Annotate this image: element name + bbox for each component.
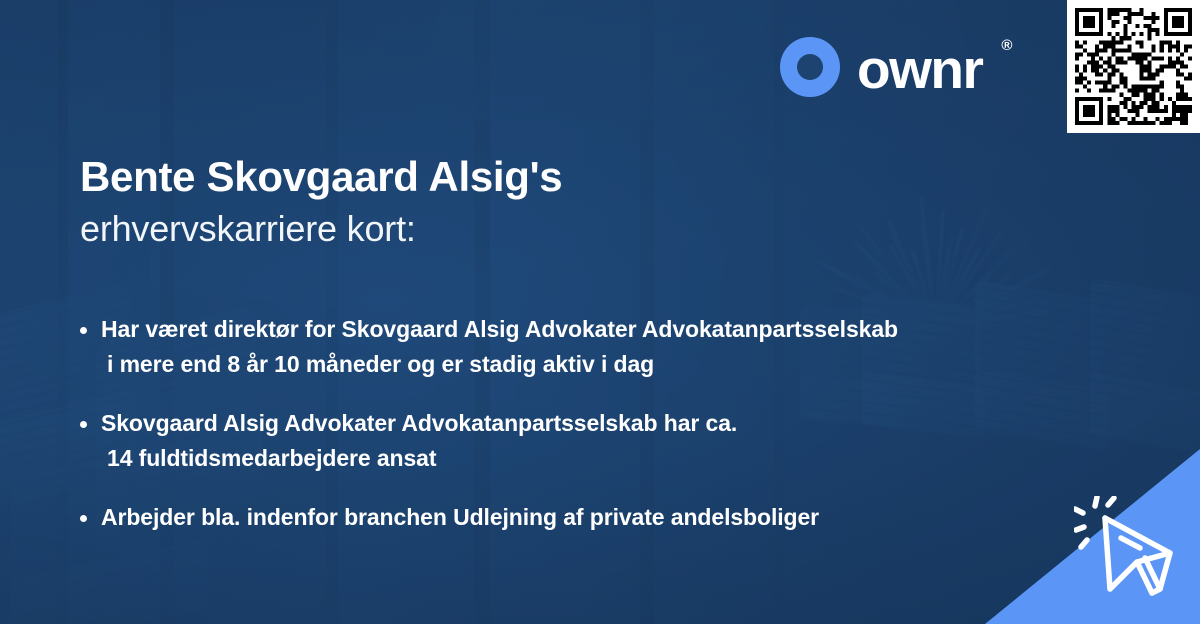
list-item-text: Arbejder bla. indenfor branchen Udlejnin… — [101, 500, 819, 535]
career-summary-list: Har været direktør for Skovgaard Alsig A… — [80, 312, 1080, 535]
ownr-logo[interactable]: ownr ® — [779, 36, 1009, 98]
qr-code-icon — [1075, 8, 1192, 125]
registered-trademark-symbol: ® — [1001, 37, 1012, 54]
list-item-line-1: Skovgaard Alsig Advokater Advokatanparts… — [101, 410, 737, 436]
list-item: Skovgaard Alsig Advokater Advokatanparts… — [80, 406, 1080, 476]
bullet-dot-icon — [80, 515, 87, 522]
ownr-circle-logo-icon — [779, 36, 841, 98]
headline-line-2: erhvervskarriere kort: — [80, 206, 980, 253]
list-item-line-2: 14 fuldtidsmedarbejdere ansat — [101, 441, 737, 476]
list-item-text: Skovgaard Alsig Advokater Advokatanparts… — [101, 406, 737, 476]
list-item: Har været direktør for Skovgaard Alsig A… — [80, 312, 1080, 382]
bullet-dot-icon — [80, 327, 87, 334]
list-item: Arbejder bla. indenfor branchen Udlejnin… — [80, 500, 1080, 535]
list-item-line-1: Har været direktør for Skovgaard Alsig A… — [101, 316, 898, 342]
qr-code-panel[interactable] — [1067, 0, 1200, 133]
brand-wordmark: ownr — [857, 42, 982, 97]
bullet-dot-icon — [80, 421, 87, 428]
click-cursor-icon — [1074, 496, 1182, 600]
business-card-banner: ownr ® Bente Skovgaard Alsig's erhvervsk… — [0, 0, 1200, 624]
list-item-line-2: i mere end 8 år 10 måneder og er stadig … — [101, 347, 898, 382]
page-title: Bente Skovgaard Alsig's erhvervskarriere… — [80, 152, 980, 252]
list-item-line-1: Arbejder bla. indenfor branchen Udlejnin… — [101, 504, 819, 530]
list-item-text: Har været direktør for Skovgaard Alsig A… — [101, 312, 898, 382]
headline-line-1: Bente Skovgaard Alsig's — [80, 152, 980, 202]
